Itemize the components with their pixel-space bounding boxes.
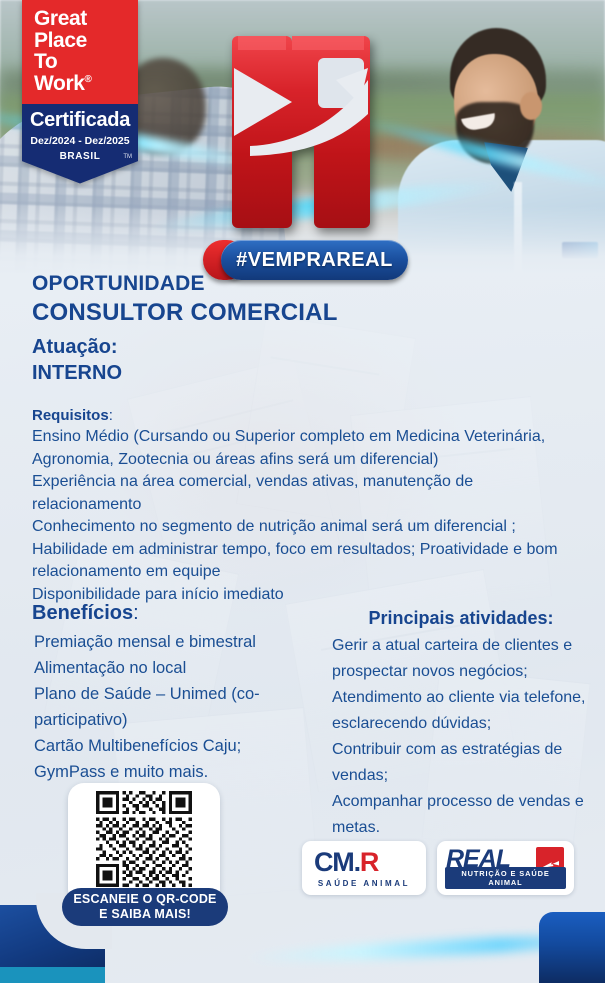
benefit-item: GymPass e muito mais. xyxy=(34,759,324,785)
activities-list: Gerir a atual carteira de clientes e pro… xyxy=(332,633,594,841)
cmr-name-accent: R xyxy=(360,847,378,877)
activity-item: Atendimento ao cliente via telefone, esc… xyxy=(332,685,594,737)
gptw-line-place: Place xyxy=(34,30,138,52)
benefits-list: Premiação mensal e bimestral Alimentação… xyxy=(34,629,324,785)
benefits-heading-colon: : xyxy=(133,602,139,624)
activity-item: Acompanhar processo de vendas e metas. xyxy=(332,789,594,841)
gptw-work-text: Work xyxy=(34,72,85,95)
registered-mark-icon: ® xyxy=(85,74,92,85)
qr-code-card[interactable] xyxy=(68,783,220,905)
benefit-item: Premiação mensal e bimestral xyxy=(34,629,324,655)
job-posting-poster: Great Place To Work® Certificada Dez/202… xyxy=(0,0,605,983)
requirements-heading-text: Requisitos xyxy=(32,407,109,424)
activity-item: Gerir a atual carteira de clientes e pro… xyxy=(332,633,594,685)
cmr-logo: CM.R SAÚDE ANIMAL xyxy=(302,841,426,895)
job-title: CONSULTOR COMERCIAL xyxy=(32,299,338,327)
real-r-logo-icon xyxy=(228,28,378,236)
real-tagline: NUTRIÇÃO E SAÚDE ANIMAL xyxy=(445,867,566,889)
requirements-list: Ensino Médio (Cursando ou Superior compl… xyxy=(32,426,582,606)
gptw-certified-label: Certificada xyxy=(22,109,138,132)
requirements-heading-colon: : xyxy=(109,407,113,424)
benefit-item: Cartão Multibenefícios Caju; xyxy=(34,733,324,759)
bottom-right-decor xyxy=(539,912,605,983)
opportunity-label: OPORTUNIDADE xyxy=(32,272,205,296)
work-mode-value: INTERNO xyxy=(32,362,122,385)
gptw-blue-panel: Certificada Dez/2024 - Dez/2025 BRASIL T… xyxy=(22,104,138,184)
work-mode-label: Atuação: xyxy=(32,336,118,359)
qr-code-cta-badge[interactable]: ESCANEIE O QR-CODE E SAIBA MAIS! xyxy=(62,888,228,926)
hashtag-badge-label: #VEMPRAREAL xyxy=(221,240,408,280)
benefit-item: Alimentação no local xyxy=(34,655,324,681)
real-logo: REAL NUTRIÇÃO E SAÚDE ANIMAL xyxy=(437,841,574,895)
gptw-validity-dates: Dez/2024 - Dez/2025 xyxy=(22,135,138,147)
requirement-item: Ensino Médio (Cursando ou Superior compl… xyxy=(32,426,582,471)
cmr-tagline: SAÚDE ANIMAL xyxy=(302,879,426,888)
gptw-line-great: Great xyxy=(34,8,138,30)
cmr-wordmark: CM.R xyxy=(314,849,378,876)
requirement-item: Habilidade em administrar tempo, foco em… xyxy=(32,539,582,584)
benefits-heading: Benefícios: xyxy=(32,602,139,625)
qr-code-icon[interactable] xyxy=(86,791,202,887)
activities-heading: Principais atividades: xyxy=(330,608,592,629)
requirement-item: Conhecimento no segmento de nutrição ani… xyxy=(32,516,582,539)
benefit-item: Plano de Saúde – Unimed (co-participativ… xyxy=(34,681,324,733)
qr-cta-line-2: E SAIBA MAIS! xyxy=(99,907,191,922)
cmr-name-main: CM xyxy=(314,847,354,877)
requirements-heading: Requisitos: xyxy=(32,407,113,424)
hashtag-badge: #VEMPRAREAL xyxy=(203,240,408,280)
trademark-icon: TM xyxy=(123,154,132,160)
great-place-to-work-badge: Great Place To Work® Certificada Dez/202… xyxy=(22,0,138,184)
gptw-red-panel: Great Place To Work® xyxy=(22,0,138,104)
gptw-country-label: BRASIL xyxy=(22,151,138,162)
gptw-line-to: To xyxy=(34,51,138,73)
person-ear xyxy=(520,92,542,120)
benefits-heading-text: Benefícios xyxy=(32,602,133,624)
qr-cta-line-1: ESCANEIE O QR-CODE xyxy=(73,892,216,907)
gptw-line-work: Work® xyxy=(34,73,138,95)
requirement-item: Experiência na área comercial, vendas at… xyxy=(32,471,582,516)
bottom-left-accent-strip xyxy=(0,967,105,983)
activity-item: Contribuir com as estratégias de vendas; xyxy=(332,737,594,789)
